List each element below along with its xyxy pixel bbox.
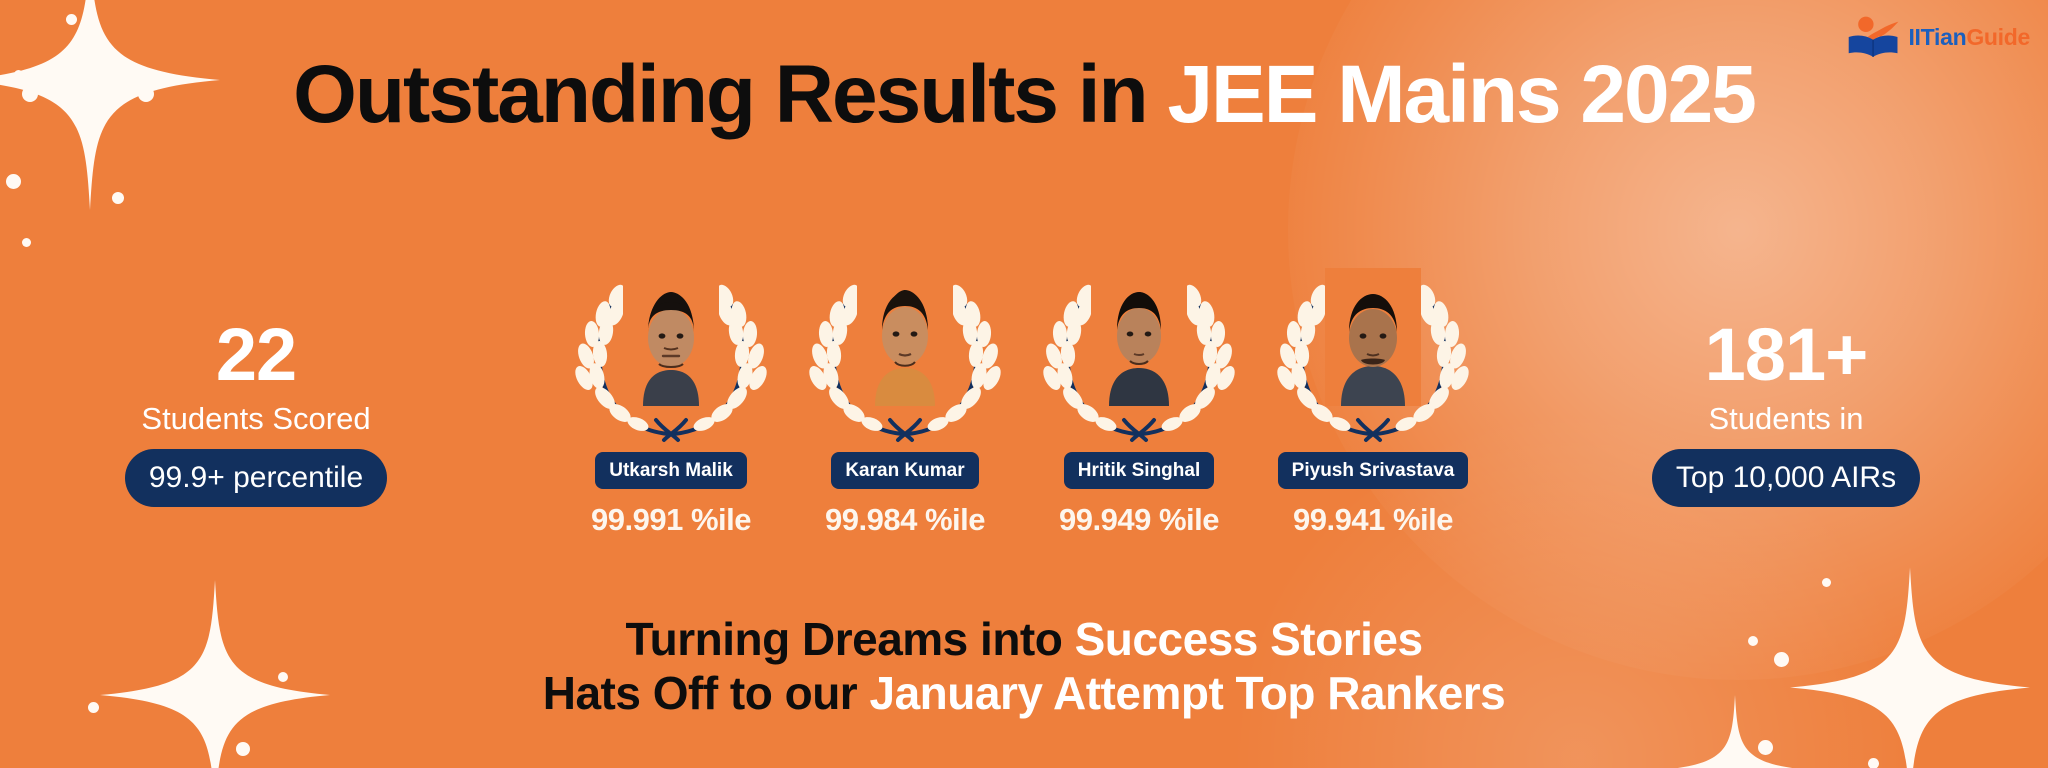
decorative-dot bbox=[112, 192, 124, 204]
ranker-name: Karan Kumar bbox=[831, 452, 978, 489]
stat-right-label: Students in bbox=[1596, 402, 1976, 436]
decorative-dot bbox=[22, 238, 31, 247]
decorative-dot bbox=[1758, 740, 1773, 755]
stat-block-right: 181+ Students in Top 10,000 AIRs bbox=[1596, 318, 1976, 507]
ranker-score: 99.949 %ile bbox=[1028, 502, 1250, 538]
ranker-name: Piyush Srivastava bbox=[1278, 452, 1469, 489]
ranker-card: Karan Kumar 99.984 %ile bbox=[794, 258, 1016, 538]
brand-name-part-2: Guide bbox=[1966, 24, 2030, 50]
decorative-dot bbox=[236, 742, 250, 756]
avatar bbox=[1091, 268, 1187, 406]
laurel-wreath-icon bbox=[1262, 258, 1484, 450]
tagline-line-1: Turning Dreams into Success Stories bbox=[0, 612, 2048, 666]
stat-left-label: Students Scored bbox=[66, 402, 446, 436]
headline-dark-text: Outstanding Results in bbox=[293, 49, 1167, 140]
promotional-banner: IITianGuide Outstanding Results in JEE M… bbox=[0, 0, 2048, 768]
ranker-score: 99.991 %ile bbox=[560, 502, 782, 538]
stat-left-badge: 99.9+ percentile bbox=[125, 449, 387, 507]
page-title: Outstanding Results in JEE Mains 2025 bbox=[0, 52, 2048, 138]
laurel-wreath-icon bbox=[1028, 258, 1250, 450]
headline-light-text: JEE Mains 2025 bbox=[1167, 49, 1754, 140]
brand-name-part-1: IITian bbox=[1908, 24, 1966, 50]
stat-right-number: 181+ bbox=[1596, 318, 1976, 392]
stat-left-number: 22 bbox=[66, 318, 446, 392]
avatar bbox=[857, 268, 953, 406]
tagline-line-2-dark: Hats Off to our bbox=[543, 667, 870, 719]
decorative-dot bbox=[1868, 758, 1879, 768]
stat-right-badge: Top 10,000 AIRs bbox=[1652, 449, 1920, 507]
brand-name: IITianGuide bbox=[1908, 24, 2030, 51]
ranker-name: Hritik Singhal bbox=[1064, 452, 1214, 489]
ranker-score: 99.984 %ile bbox=[794, 502, 1016, 538]
tagline-line-2-light: January Attempt Top Rankers bbox=[870, 667, 1506, 719]
laurel-wreath-icon bbox=[560, 258, 782, 450]
laurel-wreath-icon bbox=[794, 258, 1016, 450]
decorative-dot bbox=[66, 14, 77, 25]
decorative-dot bbox=[6, 174, 21, 189]
ranker-score: 99.941 %ile bbox=[1262, 502, 1484, 538]
ranker-card: Hritik Singhal 99.949 %ile bbox=[1028, 258, 1250, 538]
tagline: Turning Dreams into Success Stories Hats… bbox=[0, 612, 2048, 721]
avatar bbox=[623, 268, 719, 406]
avatar bbox=[1325, 268, 1421, 406]
tagline-line-2: Hats Off to our January Attempt Top Rank… bbox=[0, 666, 2048, 720]
ranker-card: Piyush Srivastava 99.941 %ile bbox=[1262, 258, 1484, 538]
top-rankers-list: Utkarsh Malik 99.991 %ile bbox=[560, 258, 1484, 538]
tagline-line-1-dark: Turning Dreams into bbox=[625, 613, 1074, 665]
ranker-name: Utkarsh Malik bbox=[595, 452, 747, 489]
stat-block-left: 22 Students Scored 99.9+ percentile bbox=[66, 318, 446, 507]
tagline-line-1-light: Success Stories bbox=[1075, 613, 1423, 665]
ranker-card: Utkarsh Malik 99.991 %ile bbox=[560, 258, 782, 538]
decorative-dot bbox=[1822, 578, 1831, 587]
